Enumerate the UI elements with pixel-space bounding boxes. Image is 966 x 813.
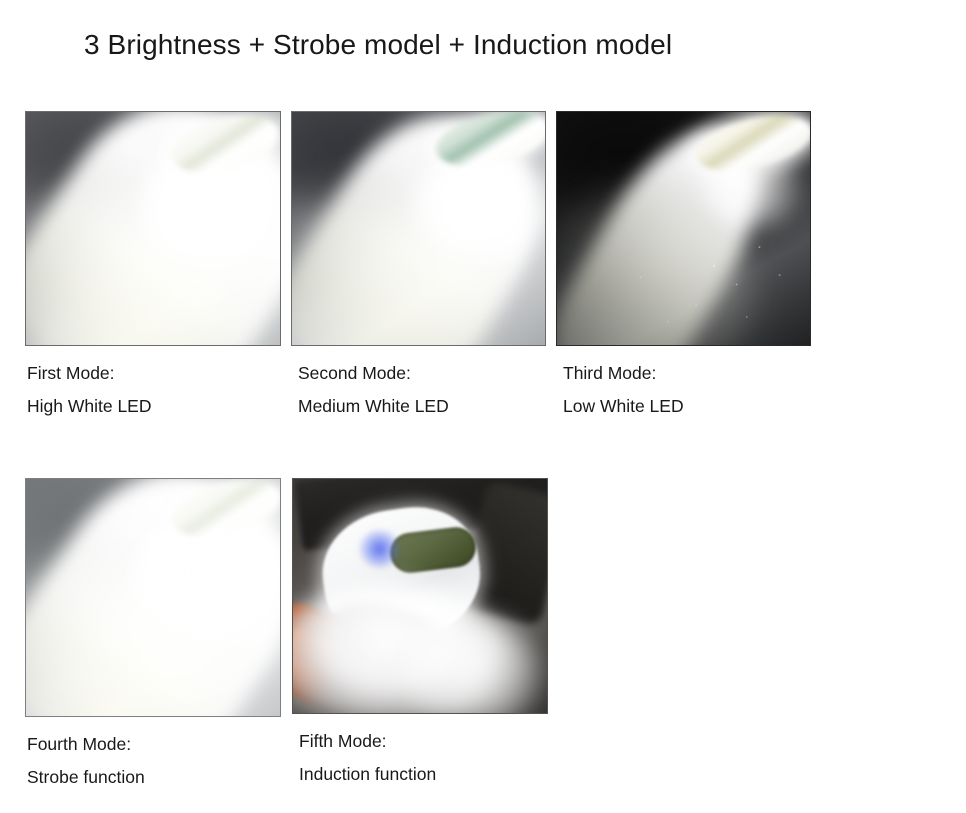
caption-third-mode: Third Mode: Low White LED — [563, 357, 684, 423]
product-feature-page: 3 Brightness + Strobe model + Induction … — [0, 0, 966, 813]
page-title: 3 Brightness + Strobe model + Induction … — [84, 29, 672, 61]
photo-headlamp-induction-hand-wave — [292, 478, 548, 714]
caption-second-mode: Second Mode: Medium White LED — [298, 357, 449, 423]
mode-order-label: Fifth Mode: — [299, 725, 436, 758]
dust-speckles — [26, 112, 280, 345]
caption-fourth-mode: Fourth Mode: Strobe function — [27, 728, 145, 794]
photo-headlamp-beam-strobe — [25, 478, 281, 717]
mode-card-fifth: Fifth Mode: Induction function — [292, 478, 548, 714]
caption-fifth-mode: Fifth Mode: Induction function — [299, 725, 436, 791]
caption-first-mode: First Mode: High White LED — [27, 357, 152, 423]
mode-card-third: Third Mode: Low White LED — [556, 111, 811, 346]
photo-headlamp-beam-medium — [291, 111, 546, 346]
mode-description-label: Strobe function — [27, 761, 145, 794]
mode-description-label: Medium White LED — [298, 390, 449, 423]
dust-speckles — [557, 112, 810, 345]
mode-order-label: Third Mode: — [563, 357, 684, 390]
mode-card-fourth: Fourth Mode: Strobe function — [25, 478, 281, 717]
dust-speckles — [26, 479, 280, 716]
mode-order-label: Fourth Mode: — [27, 728, 145, 761]
mode-card-second: Second Mode: Medium White LED — [291, 111, 546, 346]
mode-order-label: First Mode: — [27, 357, 152, 390]
mode-description-label: High White LED — [27, 390, 152, 423]
mode-description-label: Low White LED — [563, 390, 684, 423]
mode-description-label: Induction function — [299, 758, 436, 791]
mode-order-label: Second Mode: — [298, 357, 449, 390]
lens-blue-flare — [359, 530, 400, 567]
mode-card-first: First Mode: High White LED — [25, 111, 281, 346]
dust-speckles — [292, 112, 545, 345]
photo-headlamp-beam-low — [556, 111, 811, 346]
photo-headlamp-beam-high — [25, 111, 281, 346]
